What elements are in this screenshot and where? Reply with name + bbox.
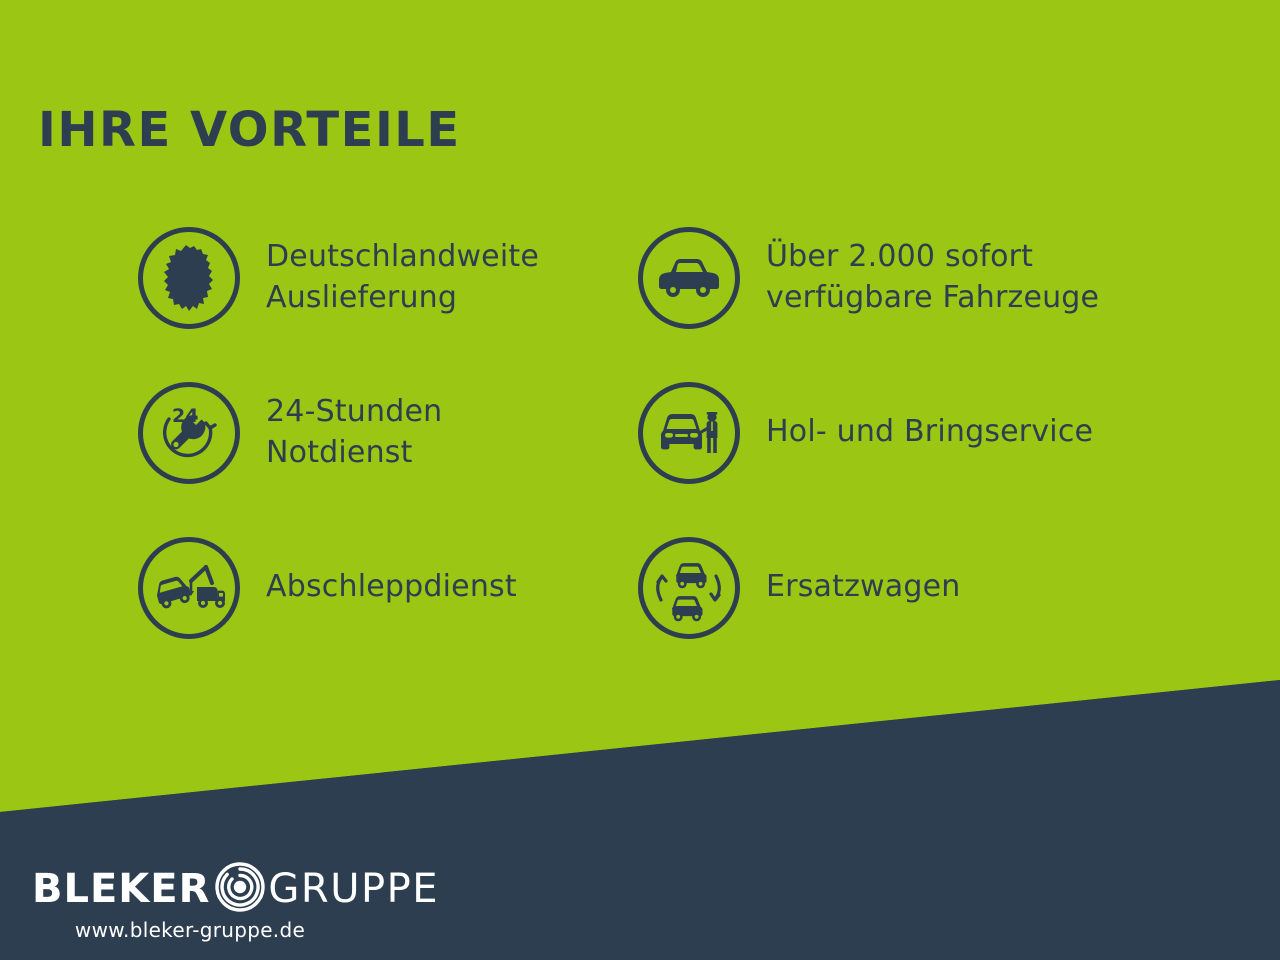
24-hour-wrench-icon: 24: [138, 382, 240, 484]
benefit-item-deutschlandweite-auslieferung: Deutschlandweite Auslieferung: [138, 200, 638, 355]
logo-wordmark: BLEKER GRUPPE: [32, 866, 439, 912]
logo-name-light: GRUPPE: [268, 869, 439, 909]
benefit-item-hol-und-bringservice: Hol- und Bringservice: [638, 355, 1158, 510]
spiral-circle-logo-icon: [214, 861, 266, 917]
benefit-item-ersatzwagen: Ersatzwagen: [638, 510, 1158, 665]
car-side-icon: [638, 227, 740, 329]
benefit-label: 24-Stunden Notdienst: [266, 392, 442, 472]
benefits-grid: Deutschlandweite Auslieferung Über 2.000…: [138, 200, 1198, 665]
car-with-driver-icon: [638, 382, 740, 484]
page-title: IHRE VORTEILE: [38, 106, 461, 154]
company-logo: BLEKER GRUPPE www.bleker-gruppe.de: [32, 866, 439, 942]
logo-name-bold: BLEKER: [32, 869, 210, 909]
germany-map-icon: [138, 227, 240, 329]
logo-website-url: www.bleker-gruppe.de: [32, 918, 348, 942]
benefit-label: Über 2.000 sofort verfügbare Fahrzeuge: [766, 237, 1099, 317]
benefit-label: Deutschlandweite Auslieferung: [266, 237, 539, 317]
tow-truck-icon: [138, 537, 240, 639]
benefit-label: Abschleppdienst: [266, 567, 517, 607]
two-cars-exchange-icon: [638, 537, 740, 639]
benefit-label: Ersatzwagen: [766, 567, 960, 607]
benefit-item-verfuegbare-fahrzeuge: Über 2.000 sofort verfügbare Fahrzeuge: [638, 200, 1158, 355]
benefit-item-24-stunden-notdienst: 24 24-Stunden Notdienst: [138, 355, 638, 510]
benefit-label: Hol- und Bringservice: [766, 412, 1093, 452]
slide-canvas: IHRE VORTEILE Deutschlandweite Ausliefer…: [0, 0, 1280, 960]
benefit-item-abschleppdienst: Abschleppdienst: [138, 510, 638, 665]
